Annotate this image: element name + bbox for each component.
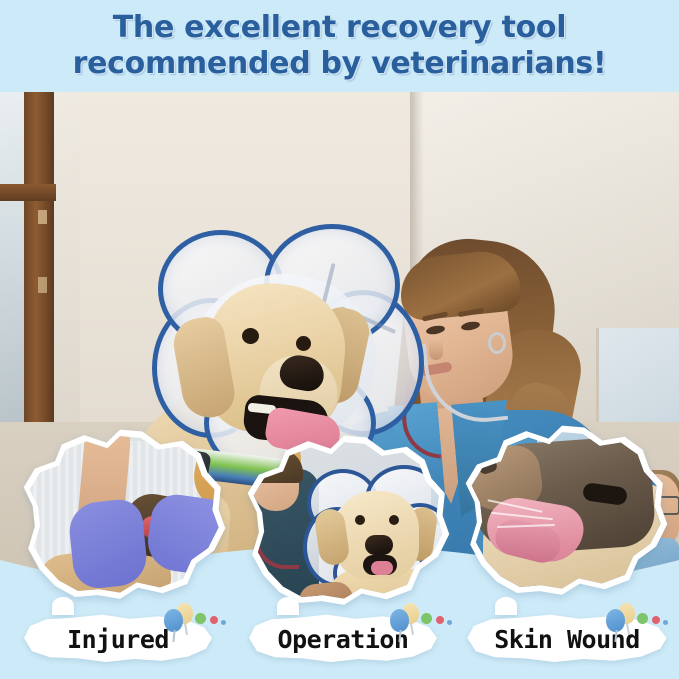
use-case-photo-injured <box>8 424 232 610</box>
balloon-string-2 <box>410 623 414 635</box>
confetti-dot-red <box>436 616 444 624</box>
inset-dog-tongue <box>371 561 393 575</box>
confetti-dot-blue <box>663 620 668 625</box>
confetti-dot-blue <box>447 620 452 625</box>
door-panel-upper <box>38 210 47 224</box>
stethoscope-earpiece <box>488 332 506 354</box>
balloon-string-2 <box>626 623 630 635</box>
balloon-decoration-operation <box>384 601 454 635</box>
label-pointer-tail <box>52 597 74 615</box>
door-frame <box>24 92 54 422</box>
inset-dog-eye-right <box>389 515 399 525</box>
confetti-dot-green <box>195 613 206 624</box>
door-rail <box>0 184 56 201</box>
headline-line-2: recommended by veterinarians! <box>0 46 679 82</box>
confetti-dot-blue <box>221 620 226 625</box>
label-text: Injured <box>67 625 169 654</box>
balloon-blue-icon <box>606 609 625 632</box>
label-pointer-tail <box>277 597 299 615</box>
product-banner: The excellent recovery tool recommended … <box>0 0 679 679</box>
use-case-photo-operation <box>232 430 456 616</box>
dog-eye-left <box>242 328 259 344</box>
balloon-blue-icon <box>164 609 183 632</box>
door-glass-left <box>0 92 26 422</box>
dog-eye-right <box>296 336 311 351</box>
balloon-decoration-skin-wound <box>600 601 670 635</box>
label-pointer-tail <box>495 597 517 615</box>
balloon-blue-icon <box>390 609 409 632</box>
confetti-dot-green <box>637 613 648 624</box>
inset-dog-eye-left <box>355 515 365 525</box>
door-glass-right <box>54 92 80 422</box>
balloon-string-2 <box>184 623 188 635</box>
use-case-photo-skin-wound <box>450 420 674 606</box>
headline-line-1: The excellent recovery tool <box>0 10 679 46</box>
confetti-dot-red <box>652 616 660 624</box>
page-title: The excellent recovery tool recommended … <box>0 10 679 82</box>
balloon-decoration-injured <box>158 601 228 635</box>
confetti-dot-red <box>210 616 218 624</box>
door-panel-lower <box>38 277 47 293</box>
blue-glove-left <box>67 497 150 590</box>
confetti-dot-green <box>421 613 432 624</box>
inset-dog-nose <box>365 535 393 555</box>
